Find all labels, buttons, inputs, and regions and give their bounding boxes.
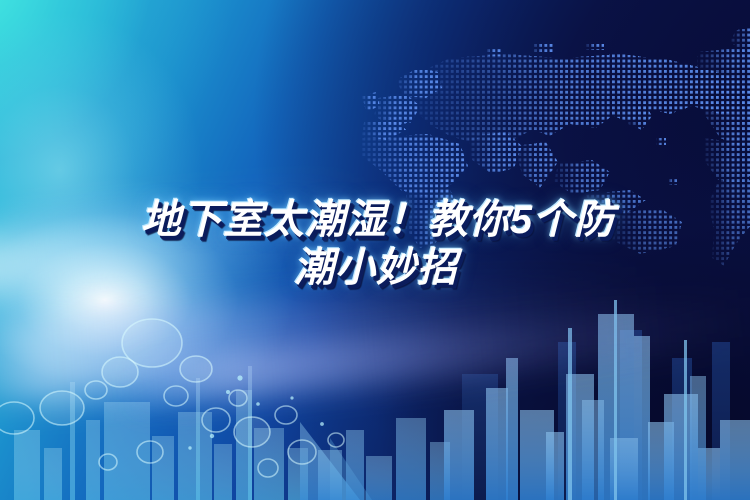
title-line-1: 地下室太潮湿！教你5个防	[0, 196, 750, 244]
poster-title: 地下室太潮湿！教你5个防 潮小妙招	[0, 196, 750, 292]
title-line-2: 潮小妙招	[0, 244, 750, 292]
poster-canvas: 地下室太潮湿！教你5个防 潮小妙招	[0, 0, 750, 500]
